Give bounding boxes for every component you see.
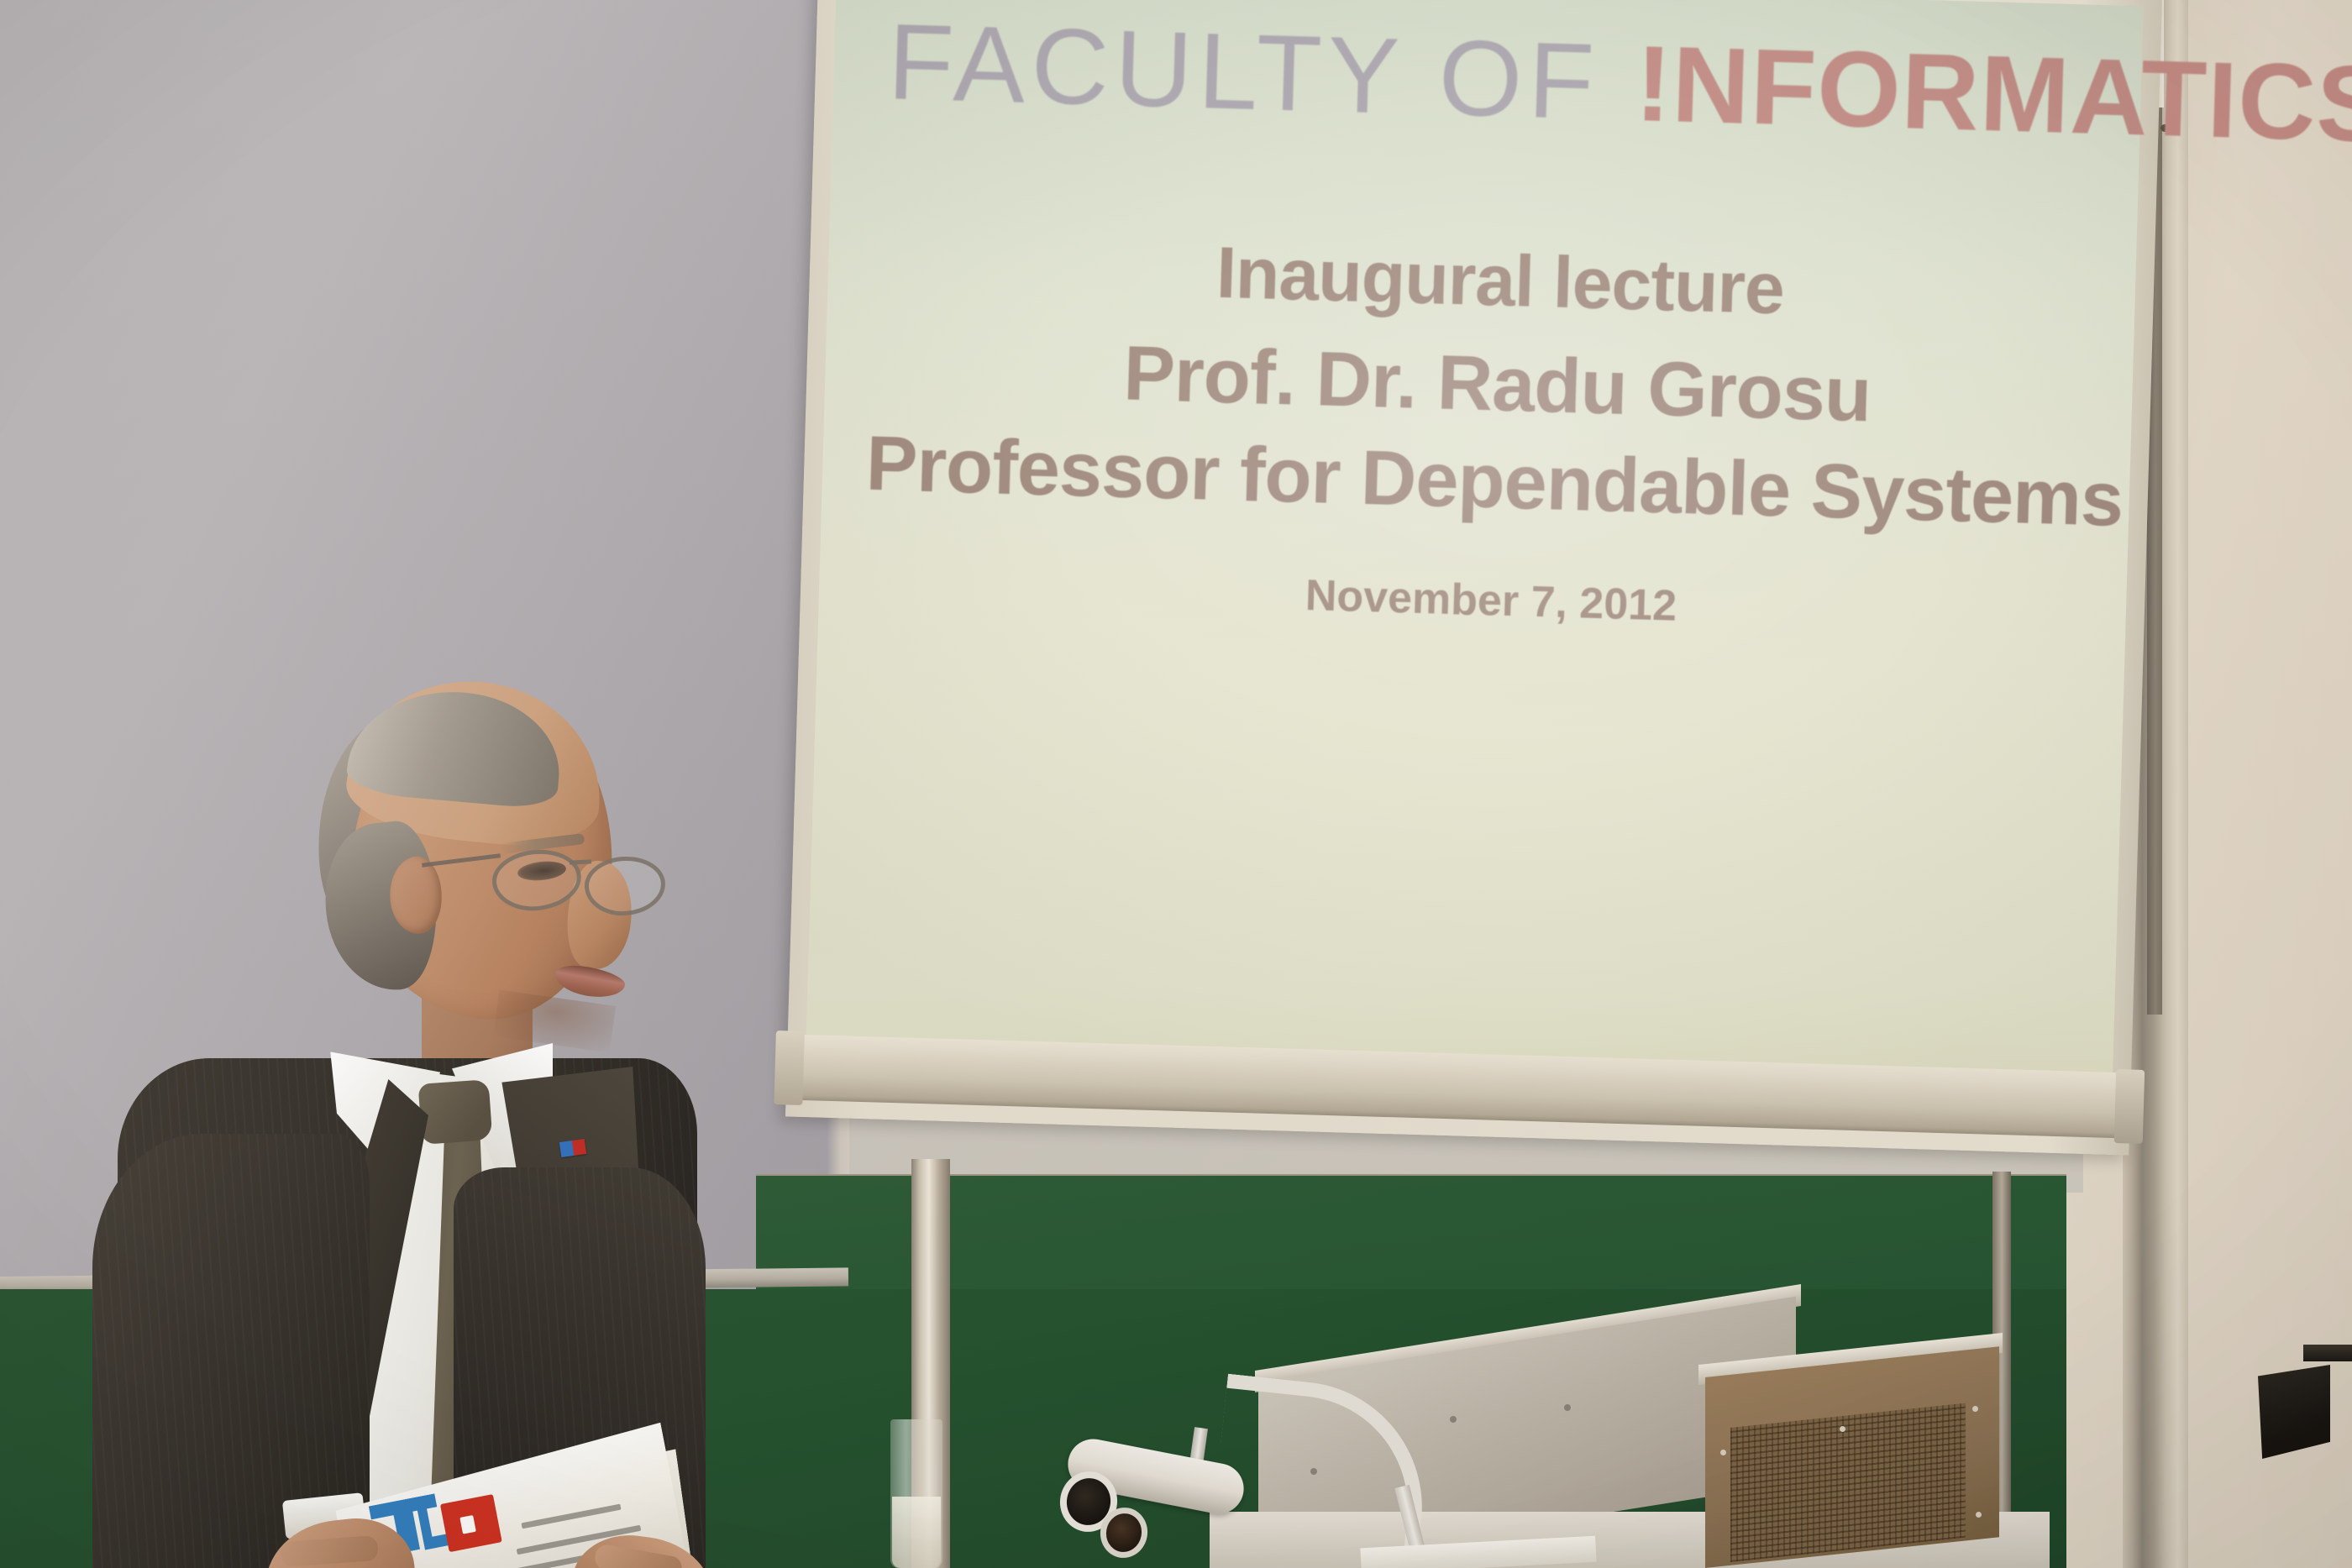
slide-date: November 7, 2012 [818, 556, 2163, 645]
slide-header-informatics: !NFORMATICS [1634, 24, 2352, 165]
slide-header-of: OF [1437, 18, 1602, 142]
cabinet-screw [1720, 1450, 1726, 1455]
wall-speaker-bracket [2303, 1345, 2352, 1361]
drinking-glass-water [892, 1497, 941, 1568]
projection-screen: FACULTY OF !NFORMATICS Inaugural lecture… [785, 0, 2162, 1155]
mouth [553, 962, 627, 1002]
slide-header-faculty: FACULTY [886, 2, 1404, 137]
screen-surface: FACULTY OF !NFORMATICS Inaugural lecture… [806, 0, 2144, 1072]
slide-line-1: Inaugural lecture [827, 220, 2173, 342]
screen-endcap-right [2114, 1069, 2145, 1144]
lectern-rivet [1564, 1404, 1571, 1411]
slide-header: FACULTY OF !NFORMATICS [886, 0, 2352, 166]
lecture-hall-photo: FACULTY OF !NFORMATICS Inaugural lecture… [0, 0, 2352, 1568]
presenter [101, 697, 857, 1568]
cabinet-screw [1976, 1512, 1982, 1518]
cabinet-screw [1972, 1406, 1978, 1412]
necktie-knot [418, 1079, 493, 1145]
speaker-cabinet-grille [1730, 1403, 1966, 1562]
cabinet-screw [1840, 1426, 1845, 1432]
lectern-rivet [1450, 1416, 1457, 1423]
